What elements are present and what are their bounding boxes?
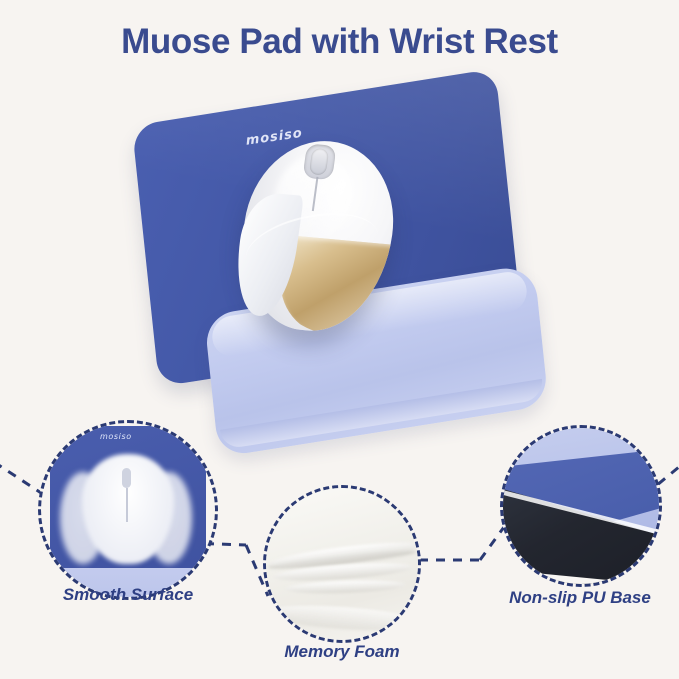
callout1-scroll-wheel <box>122 468 131 488</box>
feature-label-memory-foam: Memory Foam <box>250 642 434 662</box>
feature-label-non-slip-pu-base: Non-slip PU Base <box>480 588 679 608</box>
hero-composition: mosiso <box>102 43 589 463</box>
callout1-brand-logo: mosiso <box>100 432 132 441</box>
computer-mouse <box>223 134 416 340</box>
page-title: Muose Pad with Wrist Rest <box>0 22 679 62</box>
feature-callout-circle-2 <box>263 485 421 643</box>
callout1-button-seam <box>126 488 128 522</box>
feature-callout-image-2 <box>263 485 421 643</box>
feature-callout-circle-3 <box>500 425 662 587</box>
feature-label-smooth-surface: Smooth Surface <box>30 585 226 605</box>
product-feature-graphic: Muose Pad with Wrist Rest mosiso <box>0 0 679 679</box>
feature-callout-image-1: mosiso <box>38 420 218 600</box>
hero-product-image: mosiso <box>118 78 574 428</box>
feature-callout-image-3 <box>500 425 662 587</box>
feature-callout-circle-1: mosiso <box>38 420 218 600</box>
